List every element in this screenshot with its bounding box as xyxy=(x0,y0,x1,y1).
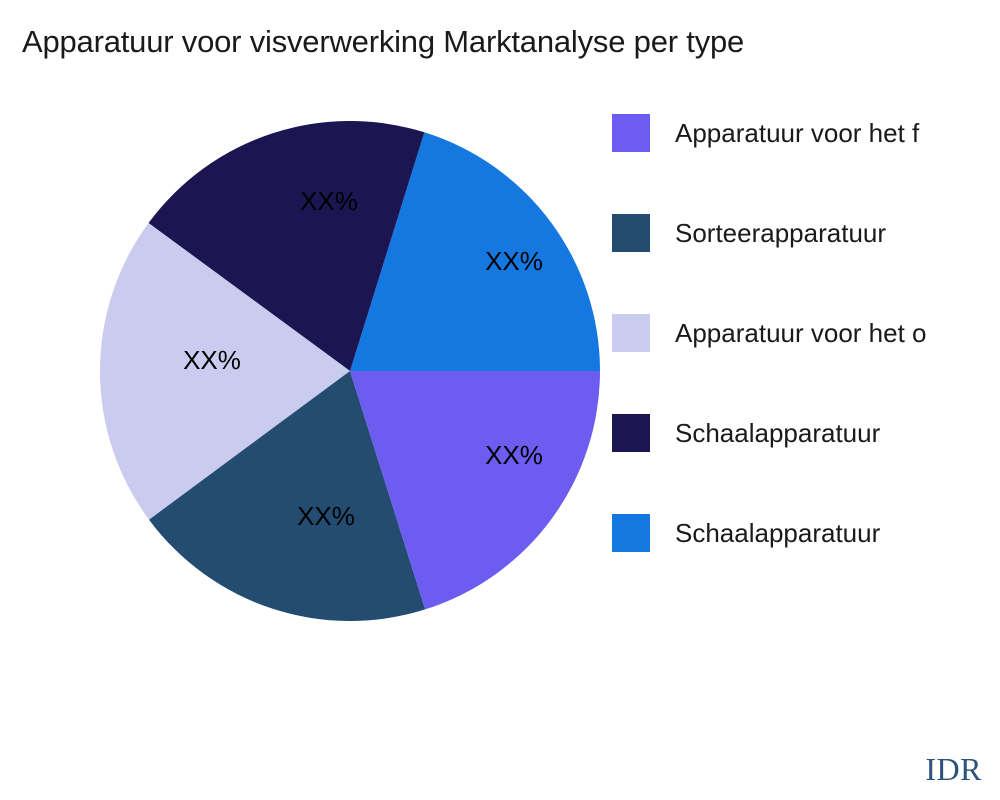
pie-slice-label: XX% xyxy=(300,186,358,216)
legend-item-0[interactable]: Apparatuur voor het f xyxy=(612,113,919,153)
legend-item-4[interactable]: Schaalapparatuur xyxy=(612,513,880,553)
legend-swatch-icon-4 xyxy=(612,514,650,552)
legend-swatch-icon-3 xyxy=(612,414,650,452)
legend-swatch-icon-2 xyxy=(612,314,650,352)
pie-slice-label: XX% xyxy=(183,345,241,375)
legend-label-0: Apparatuur voor het f xyxy=(675,118,919,148)
legend-label-2: Apparatuur voor het o xyxy=(675,318,927,348)
legend-item-1[interactable]: Sorteerapparatuur xyxy=(612,213,886,253)
legend-item-3[interactable]: Schaalapparatuur xyxy=(612,413,880,453)
pie-plot-area: XX%XX%XX%XX%XX% xyxy=(0,0,620,700)
legend-item-2[interactable]: Apparatuur voor het o xyxy=(612,313,927,353)
legend-label-3: Schaalapparatuur xyxy=(675,418,880,448)
watermark-idr: IDR xyxy=(925,751,982,788)
chart-legend: Apparatuur voor het f Sorteerapparatuur … xyxy=(612,113,1000,613)
pie-chart-figure: Apparatuur voor visverwerking Marktanaly… xyxy=(0,0,1000,800)
legend-swatch-icon-1 xyxy=(612,214,650,252)
pie-slice-label: XX% xyxy=(485,246,543,276)
pie-slice-label: XX% xyxy=(297,501,355,531)
legend-swatch-icon-0 xyxy=(612,114,650,152)
pie-svg: XX%XX%XX%XX%XX% xyxy=(0,0,620,700)
legend-label-1: Sorteerapparatuur xyxy=(675,218,886,248)
legend-label-4: Schaalapparatuur xyxy=(675,518,880,548)
pie-slice-label: XX% xyxy=(485,440,543,470)
